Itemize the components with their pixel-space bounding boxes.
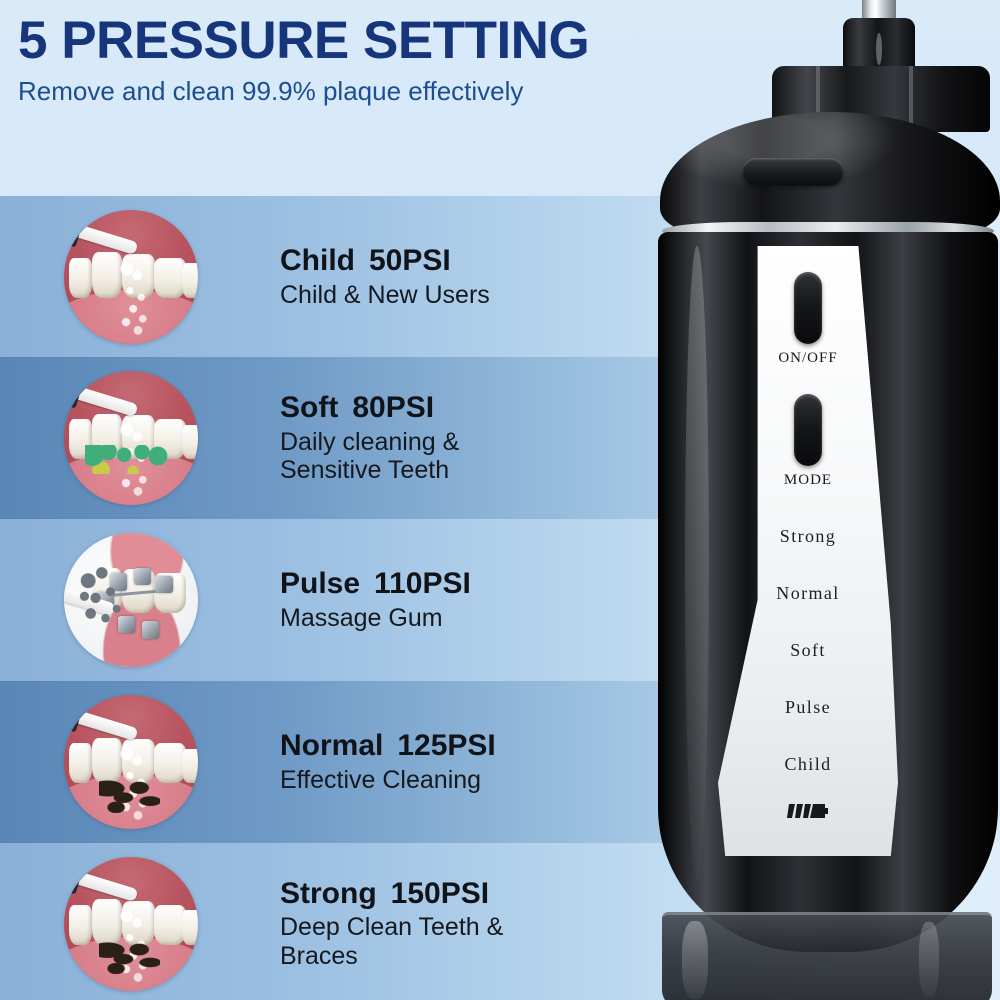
teeth-sensitive-photo xyxy=(64,371,198,505)
header: 5 PRESSURE SETTING Remove and clean 99.9… xyxy=(18,14,718,107)
mode-label-child: Child xyxy=(718,754,898,775)
row-mode-name: Strong xyxy=(280,877,377,910)
infographic-page: 5 PRESSURE SETTING Remove and clean 99.9… xyxy=(0,0,1000,1000)
mode-button[interactable] xyxy=(794,394,822,466)
row-psi-value: 110PSI xyxy=(374,567,471,600)
thumbnail-wrap xyxy=(0,210,262,344)
thumbnail-wrap xyxy=(0,695,262,829)
teeth-deep-clean-photo xyxy=(64,857,198,991)
row-description: Child & New Users xyxy=(280,281,580,310)
braces-cleaning-photo xyxy=(64,533,198,667)
row-description: Deep Clean Teeth & Braces xyxy=(280,913,580,970)
row-description: Massage Gum xyxy=(280,604,580,633)
thumbnail-wrap xyxy=(0,857,262,991)
thumbnail-wrap xyxy=(0,371,262,505)
teeth-water-jet-photo xyxy=(64,210,198,344)
row-mode-name: Soft xyxy=(280,391,338,424)
thumbnail-wrap xyxy=(0,533,262,667)
battery-level-icon xyxy=(787,802,829,820)
device-water-tank xyxy=(662,912,992,1000)
row-psi-value: 50PSI xyxy=(369,244,451,277)
row-mode-name: Pulse xyxy=(280,567,360,600)
page-subtitle: Remove and clean 99.9% plaque effectivel… xyxy=(18,76,718,107)
row-mode-name: Child xyxy=(280,244,355,277)
water-flosser-device-image: ON/OFF MODE Strong Normal Soft Pulse Chi… xyxy=(600,0,1000,1000)
page-title: 5 PRESSURE SETTING xyxy=(18,14,718,67)
power-button[interactable] xyxy=(794,272,822,344)
row-description: Daily cleaning & Sensitive Teeth xyxy=(280,428,580,485)
row-mode-name: Normal xyxy=(280,729,383,762)
row-psi-value: 125PSI xyxy=(397,729,495,762)
row-psi-value: 150PSI xyxy=(391,877,489,910)
row-description: Effective Cleaning xyxy=(280,766,580,795)
mode-label-pulse: Pulse xyxy=(718,697,898,718)
tip-eject-button[interactable] xyxy=(742,158,844,186)
teeth-plaque-photo xyxy=(64,695,198,829)
row-psi-value: 80PSI xyxy=(352,391,434,424)
